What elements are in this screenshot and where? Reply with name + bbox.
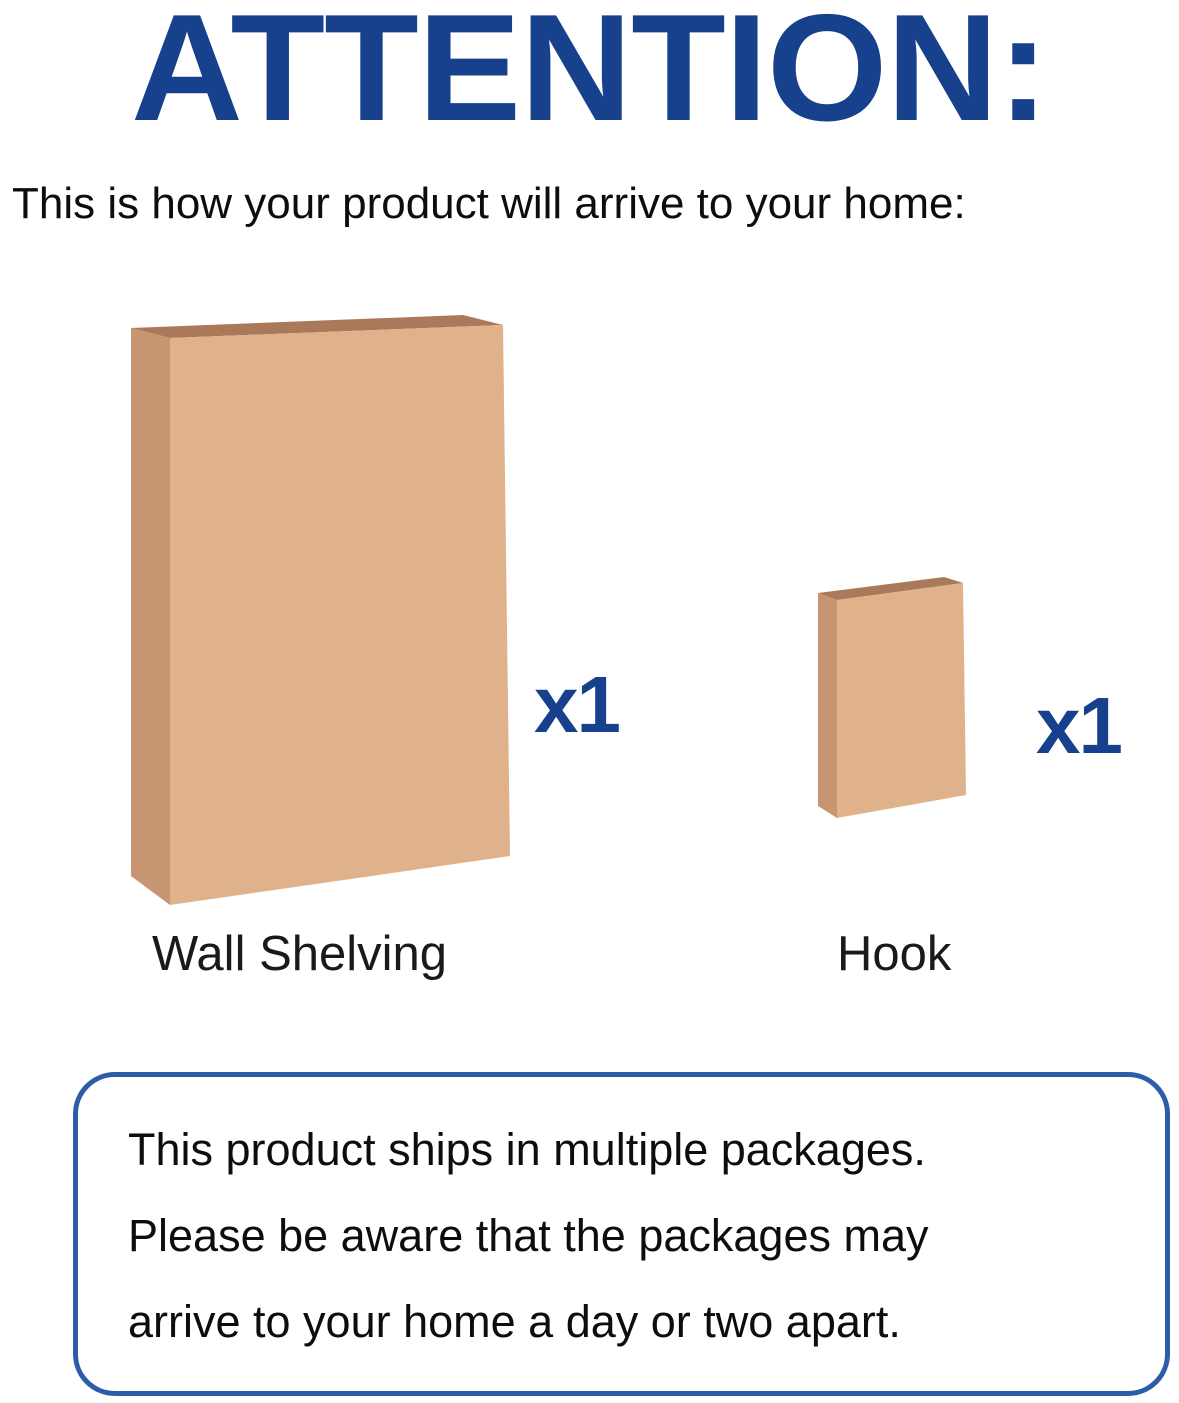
shipping-notice-box: This product ships in multiple packages.… <box>73 1072 1170 1396</box>
box-top-face <box>131 315 503 338</box>
package-box-wall-shelving <box>131 315 510 905</box>
box-front-face <box>170 325 510 905</box>
box-side-face <box>818 593 837 818</box>
quantity-label-hook: x1 <box>1036 686 1121 766</box>
shipping-notice-text: This product ships in multiple packages.… <box>128 1107 1137 1365</box>
package-illustration <box>0 0 1179 1050</box>
quantity-label-wall-shelving: x1 <box>534 665 619 745</box>
page-title: ATTENTION: <box>0 0 1179 148</box>
package-box-hook <box>818 577 966 818</box>
box-top-face <box>818 577 963 600</box>
shipping-notice-line-3: arrive to your home a day or two apart. <box>128 1279 1137 1365</box>
shipping-notice-line-1: This product ships in multiple packages. <box>128 1107 1137 1193</box>
page-subtitle: This is how your product will arrive to … <box>12 178 1172 230</box>
box-front-face <box>837 583 966 818</box>
shipping-notice-line-2: Please be aware that the packages may <box>128 1193 1137 1279</box>
box-side-face <box>131 328 170 905</box>
attention-shipping-graphic: ATTENTION: This is how your product will… <box>0 0 1179 1403</box>
package-caption-wall-shelving: Wall Shelving <box>152 925 447 983</box>
package-caption-hook: Hook <box>837 925 951 983</box>
